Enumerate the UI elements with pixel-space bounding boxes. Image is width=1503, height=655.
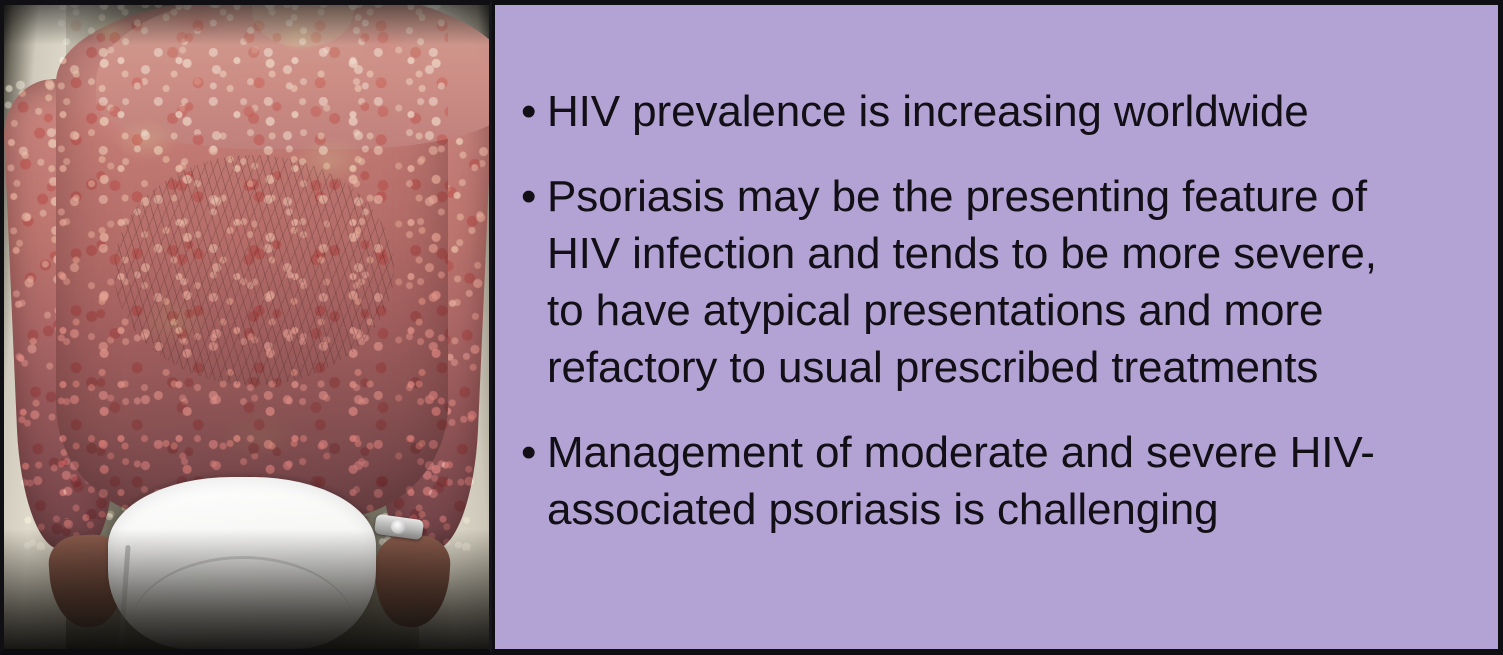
bullet-marker-icon: • xyxy=(517,168,547,225)
bullet-text-management-challenging: Management of moderate and severe HIV- a… xyxy=(547,424,1468,538)
bullet-text-psoriasis-presenting-feature: Psoriasis may be the presenting feature … xyxy=(547,168,1468,396)
bullet-item-hiv-prevalence: • HIV prevalence is increasing worldwide xyxy=(517,83,1468,140)
bullet-marker-icon: • xyxy=(517,424,547,481)
bullet-item-management-challenging: • Management of moderate and severe HIV-… xyxy=(517,424,1468,538)
bullet-item-psoriasis-presenting-feature: • Psoriasis may be the presenting featur… xyxy=(517,168,1468,396)
bullet-list: • HIV prevalence is increasing worldwide… xyxy=(517,83,1468,566)
bullet-marker-icon: • xyxy=(517,83,547,140)
bullet-text-panel: • HIV prevalence is increasing worldwide… xyxy=(492,0,1503,655)
clinical-photo-image xyxy=(4,5,489,649)
slide: • HIV prevalence is increasing worldwide… xyxy=(0,0,1503,655)
clinical-photo-panel xyxy=(0,0,492,655)
photo-vignette xyxy=(4,5,489,649)
bullet-text-hiv-prevalence: HIV prevalence is increasing worldwide xyxy=(547,83,1468,140)
